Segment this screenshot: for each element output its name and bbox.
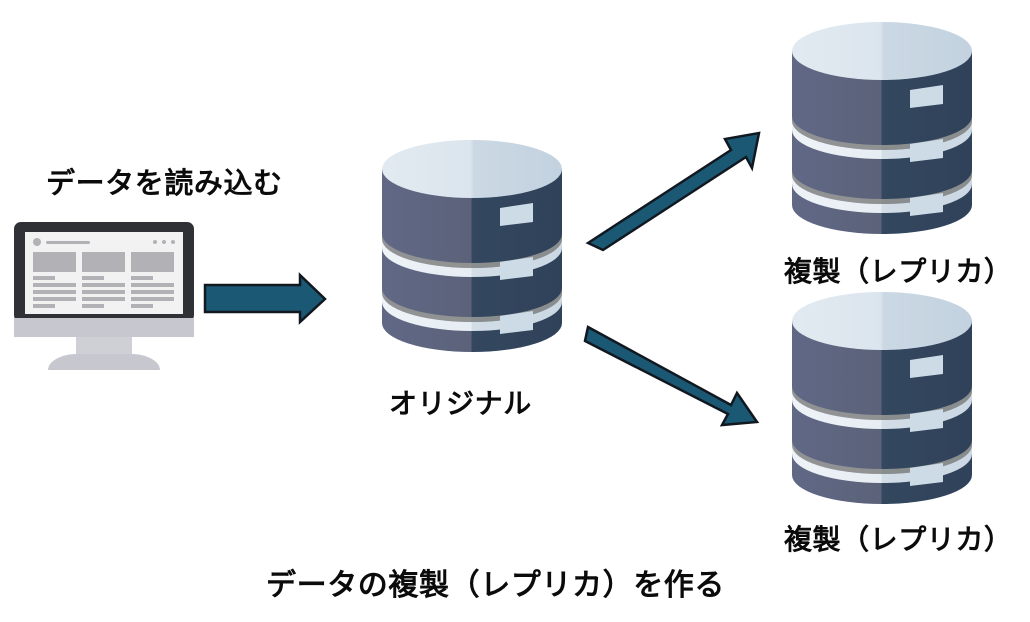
db-replica-top-icon [792, 22, 972, 234]
label-read-data: データを読み込む [46, 160, 283, 202]
label-replica-top: 複製（レプリカ） [784, 250, 1012, 290]
monitor-icon [14, 222, 194, 370]
diagram-caption: データの複製（レプリカ）を作る [266, 560, 725, 604]
arrow-original-to-replica-top [588, 133, 759, 250]
label-replica-bottom: 複製（レプリカ） [784, 518, 1012, 558]
arrow-monitor-to-original [205, 275, 325, 322]
diagram-canvas: データを読み込む オリジナル 複製（レプリカ） 複製（レプリカ） データの複製（… [0, 0, 1030, 622]
db-original-icon [382, 140, 562, 352]
arrow-original-to-replica-bottom [585, 327, 757, 425]
label-original: オリジナル [389, 382, 532, 422]
db-replica-bottom-icon [792, 292, 972, 504]
